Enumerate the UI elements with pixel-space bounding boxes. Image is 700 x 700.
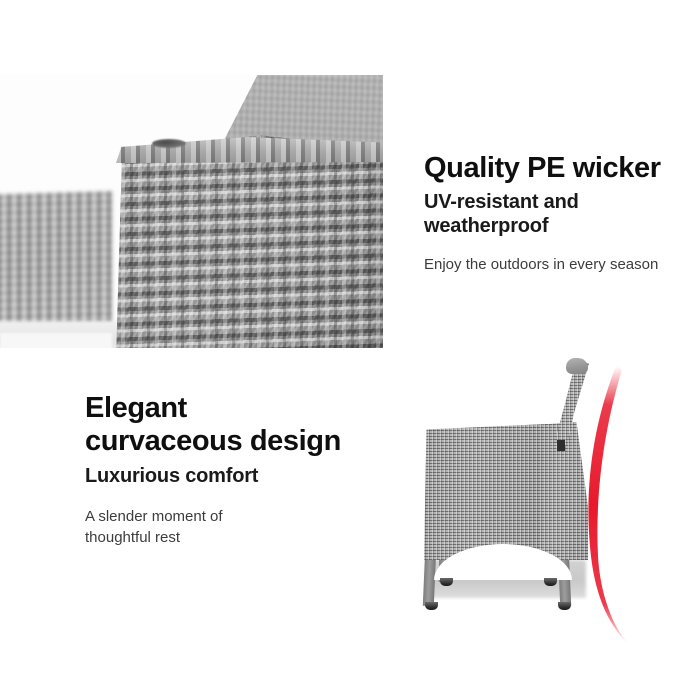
armrest-apex-crevice — [152, 139, 186, 148]
wicker-subheadline: UV-resistant and weatherproof — [424, 190, 690, 238]
chair-backrest-finial — [566, 358, 588, 374]
wicker-feature-text-block: Quality PE wicker UV-resistant and weath… — [424, 152, 690, 276]
wicker-description: Enjoy the outdoors in every season — [424, 255, 690, 276]
blurred-background-wicker-panel — [0, 191, 112, 326]
design-headline: Elegant curvaceous design — [85, 392, 375, 458]
chair-side-profile-photo — [398, 352, 700, 652]
design-feature-text-block: Elegant curvaceous design Luxurious comf… — [85, 392, 375, 548]
design-subheadline: Luxurious comfort — [85, 464, 375, 488]
chair-back-panel — [424, 424, 548, 560]
chair-foot-front-left — [425, 602, 438, 610]
foreground-wicker-weave — [104, 135, 383, 348]
design-description-line-1: A slender moment of — [85, 508, 223, 525]
product-feature-collage: Quality PE wicker UV-resistant and weath… — [0, 0, 700, 700]
floor-highlight-strip — [0, 333, 112, 348]
chair-foot-back-right — [544, 578, 557, 586]
design-description: A slender moment of thoughtful rest — [85, 507, 375, 548]
design-headline-line-2: curvaceous design — [85, 425, 341, 457]
chair-foot-back-left — [440, 578, 453, 586]
design-headline-line-1: Elegant — [85, 392, 187, 424]
chair-foot-front-right — [558, 602, 571, 610]
wicker-headline: Quality PE wicker — [424, 152, 690, 185]
wicker-weave-closeup-photo — [0, 75, 383, 348]
chair-arm-bracket — [557, 440, 565, 451]
design-description-line-2: thoughtful rest — [85, 529, 180, 546]
